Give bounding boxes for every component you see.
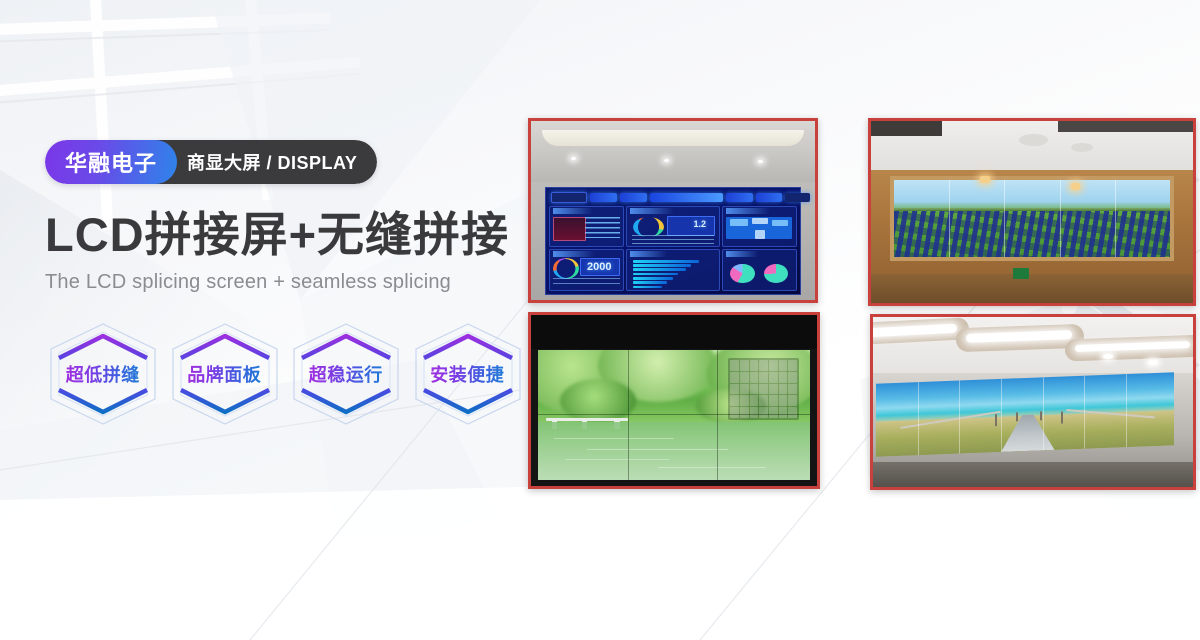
photo-willow-lake-wall — [531, 315, 817, 486]
brand-category: 商显大屏 / DISPLAY — [153, 140, 377, 184]
feature-label: 安装便捷 — [430, 361, 504, 387]
photo-solar-farm-wall — [871, 121, 1193, 303]
feature-label: 品牌面板 — [187, 361, 261, 387]
gallery-item-solar-farm-video-wall[interactable] — [868, 118, 1196, 306]
feature-label: 超稳运行 — [309, 361, 383, 387]
gallery-item-willow-lake-video-wall[interactable] — [528, 312, 820, 489]
brand-name: 华融电子 — [45, 140, 177, 184]
photo-control-room: 1.2 — [531, 121, 815, 300]
page-title: LCD拼接屏+无缝拼接 — [45, 210, 525, 259]
feature-hexagon-3: 超稳运行 — [288, 320, 404, 428]
feature-hexagon-2: 品牌面板 — [167, 320, 283, 428]
feature-label: 超低拼缝 — [66, 361, 140, 387]
feature-hexagon-1: 超低拼缝 — [45, 320, 161, 428]
feature-list: 超低拼缝 品牌面板 超稳运行 — [45, 320, 525, 428]
product-banner: 华融电子 商显大屏 / DISPLAY LCD拼接屏+无缝拼接 The LCD … — [0, 0, 1200, 640]
hero-text-column: 华融电子 商显大屏 / DISPLAY LCD拼接屏+无缝拼接 The LCD … — [45, 140, 525, 428]
page-subtitle: The LCD splicing screen + seamless splic… — [45, 271, 525, 294]
photo-beach-boardwalk-wall — [873, 317, 1193, 487]
product-gallery: 1.2 — [528, 118, 1196, 492]
brand-badge: 华融电子 商显大屏 / DISPLAY — [45, 140, 377, 184]
feature-hexagon-4: 安装便捷 — [410, 320, 526, 428]
gallery-item-beach-boardwalk-video-wall[interactable] — [870, 314, 1196, 490]
gallery-item-control-room-dashboard[interactable]: 1.2 — [528, 118, 818, 303]
